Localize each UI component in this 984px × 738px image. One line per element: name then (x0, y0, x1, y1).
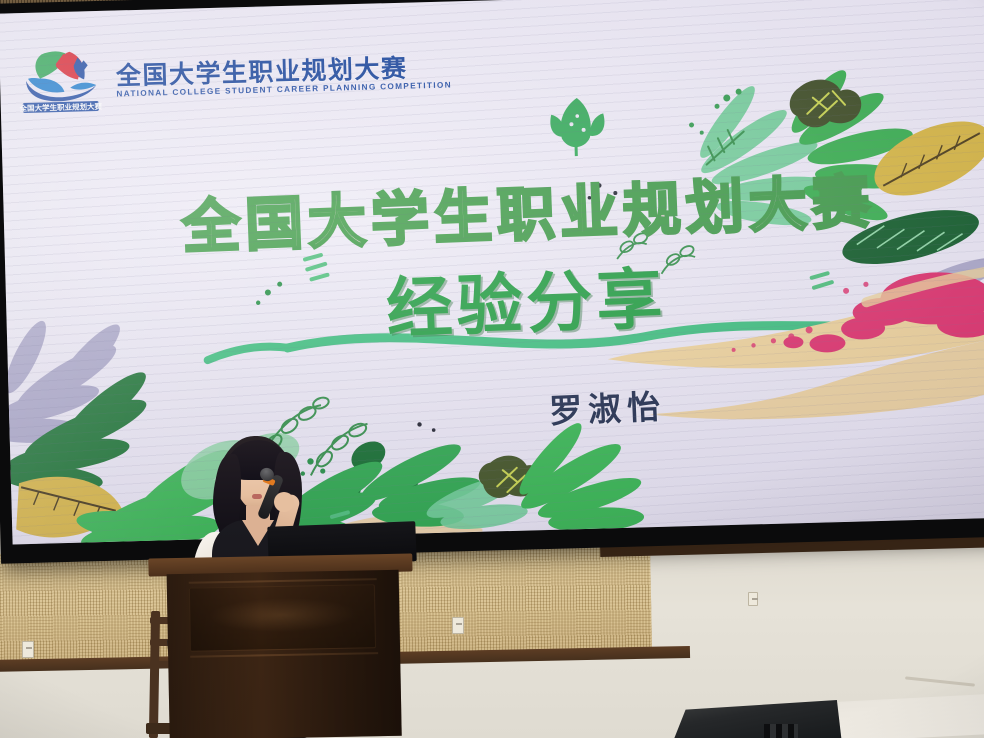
led-screen-frame: 全国大学生职业规划大赛 全国大学生职业规划大赛 NATIONAL COLLEGE… (0, 0, 984, 564)
wall-power-outlet (452, 617, 464, 634)
wall-power-outlet (22, 641, 34, 658)
wooden-podium (158, 554, 405, 738)
slide-subheading: 经验分享 (385, 266, 667, 342)
wall-power-outlet (748, 592, 758, 606)
led-screen: 全国大学生职业规划大赛 全国大学生职业规划大赛 NATIONAL COLLEGE… (0, 0, 984, 544)
brand-header: 全国大学生职业规划大赛 全国大学生职业规划大赛 NATIONAL COLLEGE… (17, 33, 452, 117)
svg-text:全国大学生职业规划大赛: 全国大学生职业规划大赛 (18, 101, 102, 113)
hand (274, 492, 294, 512)
national-college-career-competition-logo: 全国大学生职业规划大赛 (17, 43, 103, 117)
leaf-sprig-icon (550, 97, 606, 156)
photo-scene: 全国大学生职业规划大赛 全国大学生职业规划大赛 NATIONAL COLLEGE… (0, 0, 984, 738)
mouth (252, 494, 262, 499)
slide-speaker-name: 罗淑怡 (548, 380, 667, 433)
speaker-grill (764, 724, 798, 738)
podium-shading (167, 570, 402, 738)
